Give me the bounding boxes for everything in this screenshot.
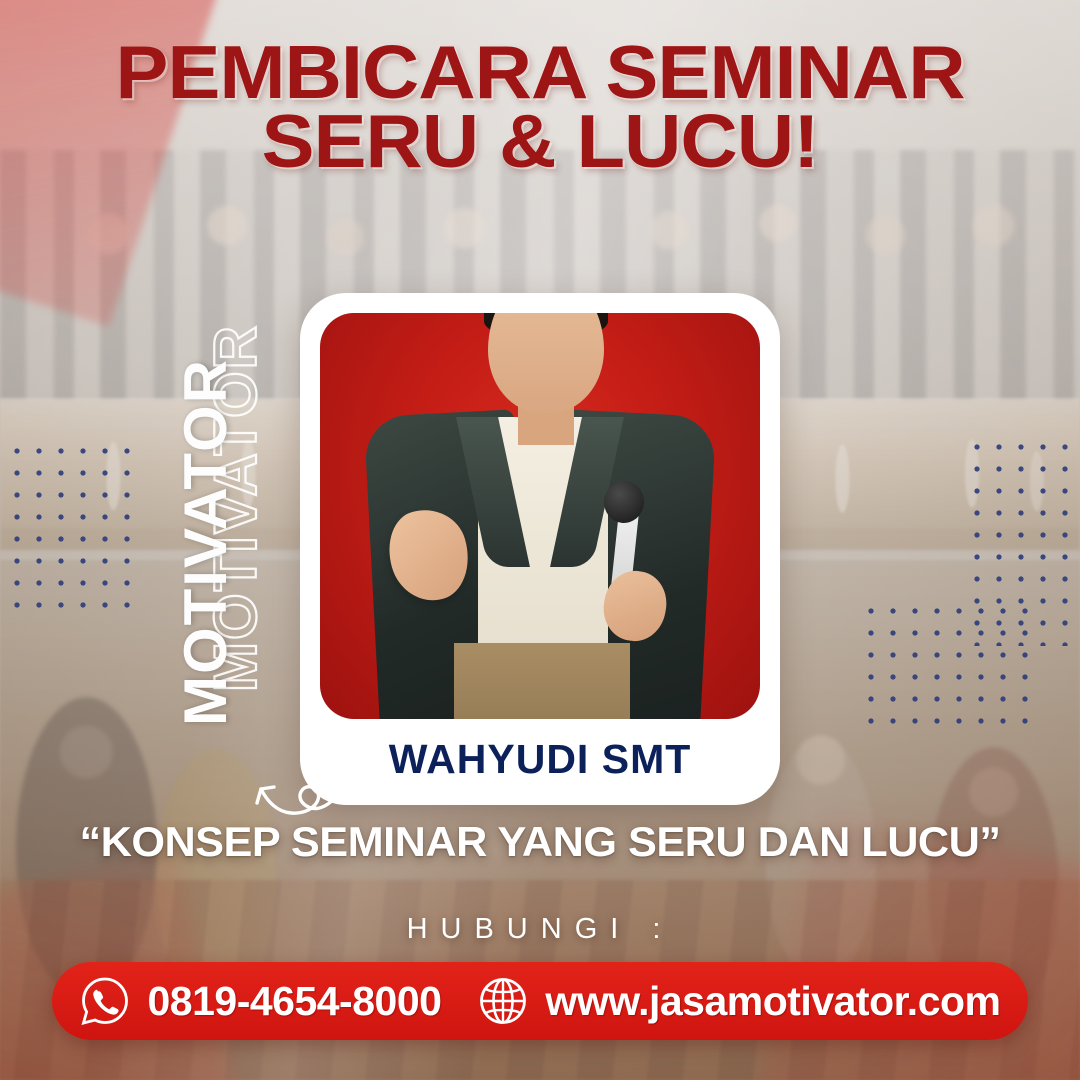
phone-number: 0819-4654-8000: [147, 978, 441, 1025]
dot-grid-right-lower: [860, 600, 1040, 730]
dot-grid-left: [6, 440, 138, 620]
contact-bar: 0819-4654-8000 www.jasamotivator.com: [52, 962, 1028, 1040]
whatsapp-icon: [79, 975, 131, 1027]
website-url: www.jasamotivator.com: [545, 978, 1000, 1025]
contact-prompt: HUBUNGI :: [0, 913, 1080, 946]
trousers: [454, 643, 630, 719]
poster-canvas: PEMBICARA SEMINAR SERU & LUCU! MOTIVATOR…: [0, 0, 1080, 1080]
speaker-figure: [320, 313, 760, 719]
page-title: PEMBICARA SEMINAR SERU & LUCU!: [0, 38, 1080, 176]
website-contact[interactable]: www.jasamotivator.com: [477, 975, 1000, 1027]
phone-contact[interactable]: 0819-4654-8000: [79, 975, 441, 1027]
speaker-card: WAHYUDI SMT: [300, 293, 780, 805]
tagline: “KONSEP SEMINAR YANG SERU DAN LUCU”: [0, 818, 1080, 866]
swirl-arrow-icon: [243, 757, 363, 827]
speaker-name: WAHYUDI SMT: [300, 736, 780, 783]
speaker-photo: [320, 313, 760, 719]
head: [488, 313, 604, 413]
globe-icon: [477, 975, 529, 1027]
